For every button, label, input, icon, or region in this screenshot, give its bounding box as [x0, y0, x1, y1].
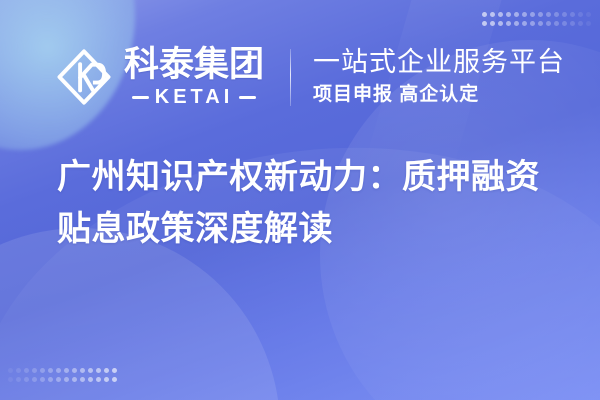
dot-icon [40, 368, 45, 373]
dot-icon [530, 21, 535, 26]
dot-icon [64, 377, 69, 382]
dot-icon [40, 377, 45, 382]
dot-icon [506, 12, 511, 17]
dot-row [482, 12, 594, 17]
dot-icon [586, 12, 591, 17]
dot-icon [514, 21, 519, 26]
slogan-main-text: 一站式企业服务平台 [313, 47, 565, 78]
dot-icon [8, 368, 13, 373]
dot-icon [72, 368, 77, 373]
dot-icon [8, 377, 13, 382]
dot-icon [96, 377, 101, 382]
dot-icon [578, 12, 583, 17]
dot-icon [586, 21, 591, 26]
logo-name-cn: 科泰集团 [124, 47, 264, 82]
dot-icon [88, 377, 93, 382]
dot-icon [554, 21, 559, 26]
dot-icon [490, 12, 495, 17]
dot-icon [24, 368, 29, 373]
dot-icon [538, 21, 543, 26]
dot-icon [88, 368, 93, 373]
logo-rule-right-icon [239, 96, 256, 99]
dot-icon [112, 377, 117, 382]
dot-icon [72, 377, 77, 382]
logo-wordmark: 科泰集团 KETAI [124, 47, 264, 107]
dot-icon [104, 377, 109, 382]
dot-icon [96, 368, 101, 373]
dot-icon [522, 12, 527, 17]
dot-icon [24, 377, 29, 382]
ketai-logo-icon [56, 48, 112, 106]
dot-icon [498, 12, 503, 17]
dot-row [8, 377, 120, 382]
dot-icon [64, 368, 69, 373]
dot-grid-bottom-left-icon [8, 368, 120, 382]
dot-icon [562, 21, 567, 26]
dot-row [482, 21, 594, 26]
dot-icon [546, 12, 551, 17]
dot-icon [16, 377, 21, 382]
dot-icon [570, 21, 575, 26]
dot-icon [48, 377, 53, 382]
dot-icon [482, 12, 487, 17]
slogan-block: 一站式企业服务平台 项目申报 高企认定 [313, 47, 565, 107]
dot-icon [56, 368, 61, 373]
page-title: 广州知识产权新动力：质押融资贴息政策深度解读 [57, 152, 557, 255]
dot-icon [530, 12, 535, 17]
slogan-sub-text: 项目申报 高企认定 [313, 84, 565, 107]
dot-icon [522, 21, 527, 26]
dot-icon [490, 21, 495, 26]
dot-icon [80, 368, 85, 373]
dot-icon [48, 368, 53, 373]
dot-icon [546, 21, 551, 26]
logo-name-en: KETAI [155, 87, 234, 107]
dot-icon [506, 21, 511, 26]
dot-icon [554, 12, 559, 17]
banner-header: 科泰集团 KETAI 一站式企业服务平台 项目申报 高企认定 [0, 38, 600, 116]
dot-icon [80, 377, 85, 382]
dot-grid-top-right-icon [482, 12, 594, 26]
vertical-divider [290, 49, 291, 106]
dot-icon [16, 368, 21, 373]
dot-icon [32, 377, 37, 382]
dot-icon [104, 368, 109, 373]
logo-en-wrapper: KETAI [124, 87, 264, 107]
dot-icon [498, 21, 503, 26]
dot-icon [578, 21, 583, 26]
dot-icon [32, 368, 37, 373]
promo-banner: 科泰集团 KETAI 一站式企业服务平台 项目申报 高企认定 广州知识产权新动力… [0, 0, 600, 400]
dot-icon [112, 368, 117, 373]
dot-icon [514, 12, 519, 17]
title-block: 广州知识产权新动力：质押融资贴息政策深度解读 [57, 152, 557, 255]
logo-rule-left-icon [132, 96, 149, 99]
dot-row [8, 368, 120, 373]
dot-icon [538, 12, 543, 17]
dot-icon [562, 12, 567, 17]
dot-icon [570, 12, 575, 17]
dot-icon [56, 377, 61, 382]
dot-icon [482, 21, 487, 26]
